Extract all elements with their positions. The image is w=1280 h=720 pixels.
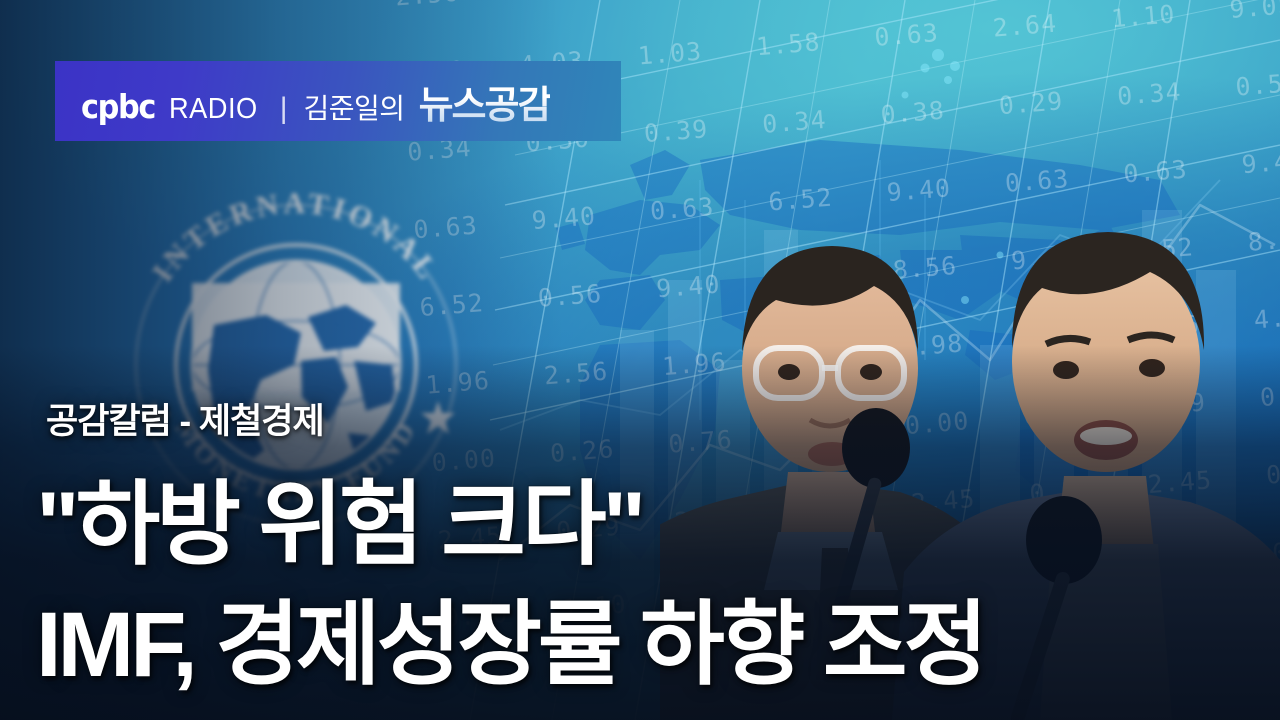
cpbc-program-banner: cpbc RADIO | 김준일의 뉴스공감 — [55, 61, 621, 141]
headline-line-1: "하방 위험 크다" — [36, 450, 642, 583]
host-name: 김준일의 — [304, 87, 405, 127]
radio-label: RADIO — [169, 93, 258, 126]
thumbnail-canvas: 2.569.816.674.503.318.676.525.671.204.03… — [0, 0, 1280, 720]
cpbc-wordmark: cpbc — [81, 87, 155, 126]
program-title: 뉴스공감 — [419, 74, 551, 129]
banner-divider: | — [280, 92, 288, 126]
kicker-label: 공감칼럼 - 제철경제 — [46, 393, 324, 444]
headline-line-2: IMF, 경제성장률 하향 조정 — [36, 570, 984, 703]
